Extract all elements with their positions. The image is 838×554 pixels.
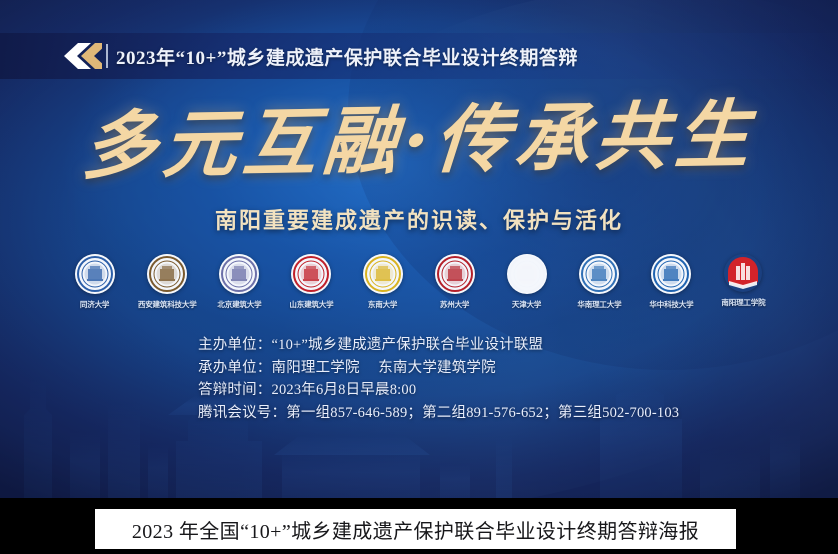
university-logo-item: 西安建筑科技大学 [139,254,195,310]
university-logo-label: 东南大学 [368,299,397,309]
poster-subtitle: 南阳重要建成遗产的识读、保护与活化 [0,203,838,235]
university-emblem-icon [724,254,762,292]
university-emblem-icon [651,254,691,294]
figure-caption-text: 2023 年全国“10+”城乡建成遗产保护联合毕业设计终期答辩海报 [132,515,699,544]
university-emblem-icon [507,254,547,294]
poster-main-title: 多元互融·传承共生 [0,97,838,186]
poster-header-title: 2023年“10+”城乡建成遗产保护联合毕业设计终期答辩 [116,43,578,70]
poster-info-line: 主办单位：“10+”城乡建成遗产保护联合毕业设计联盟 [198,334,679,357]
university-logo-label: 华南理工大学 [577,299,621,309]
poster-info-line: 答辩时间：2023年6月8日早晨8:00 [198,379,679,402]
university-logo-label: 苏州大学 [440,299,469,309]
university-logo-label: 山东建筑大学 [289,299,333,309]
university-logo-row: 同济大学西安建筑科技大学北京建筑大学山东建筑大学东南大学苏州大学天津大学华南理工… [0,254,838,310]
poster-image: 2023年“10+”城乡建成遗产保护联合毕业设计终期答辩 多元互融·传承共生 南… [0,0,838,498]
university-logo-item: 南阳理工学院 [715,254,771,308]
university-emblem-icon [363,254,403,294]
university-logo-item: 北京建筑大学 [211,254,267,310]
university-logo-item: 同济大学 [67,254,123,310]
university-logo-item: 东南大学 [355,254,411,310]
poster-info-line: 承办单位：南阳理工学院 东南大学建筑学院 [198,357,679,380]
university-logo-label: 西安建筑科技大学 [138,299,197,309]
double-chevron-icon [58,43,102,69]
university-logo-label: 同济大学 [80,299,109,309]
university-logo-item: 天津大学 [499,254,555,310]
poster-header-bar: 2023年“10+”城乡建成遗产保护联合毕业设计终期答辩 [0,33,838,79]
university-logo-label: 南阳理工学院 [721,297,765,307]
university-logo-item: 苏州大学 [427,254,483,310]
university-logo-item: 华南理工大学 [571,254,627,310]
university-logo-item: 山东建筑大学 [283,254,339,310]
university-emblem-icon [147,254,187,294]
figure-caption-box: 2023 年全国“10+”城乡建成遗产保护联合毕业设计终期答辩海报 [95,509,736,549]
poster-info-line: 腾讯会议号：第一组857-646-589；第二组891-576-652；第三组5… [198,402,679,425]
university-emblem-icon [75,254,115,294]
university-logo-label: 华中科技大学 [649,299,693,309]
header-divider [106,44,108,68]
university-emblem-icon [291,254,331,294]
university-emblem-icon [219,254,259,294]
poster-info-block: 主办单位：“10+”城乡建成遗产保护联合毕业设计联盟承办单位：南阳理工学院 东南… [198,334,679,424]
university-emblem-icon [435,254,475,294]
university-logo-label: 天津大学 [512,299,541,309]
university-logo-label: 北京建筑大学 [217,299,261,309]
university-emblem-icon [579,254,619,294]
university-logo-item: 华中科技大学 [643,254,699,310]
